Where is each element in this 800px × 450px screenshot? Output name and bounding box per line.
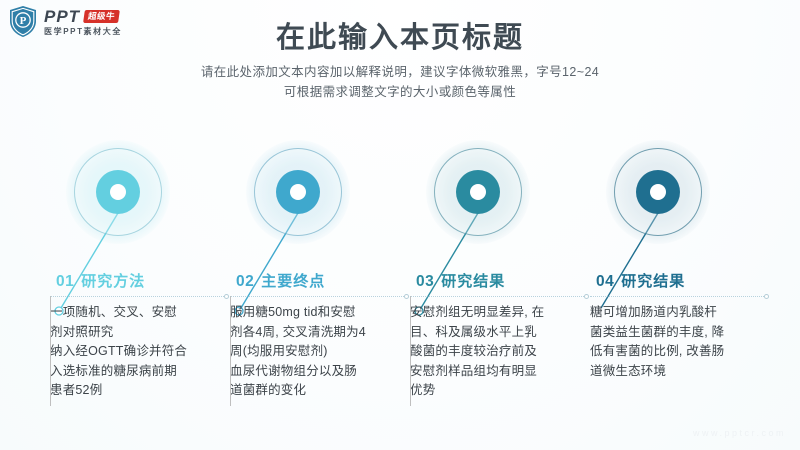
column-rule-3 bbox=[410, 296, 411, 406]
column-number-1: 01 bbox=[56, 273, 74, 291]
column-heading-3: 03 研究结果 bbox=[408, 270, 593, 298]
content-column-4[interactable]: 04 研究结果 糖可增加肠道内乳酸杆 菌类益生菌群的丰度, 降 低有害菌的比例,… bbox=[588, 140, 773, 430]
column-rule-2 bbox=[230, 296, 231, 406]
target-circle-icon-1[interactable] bbox=[66, 140, 170, 244]
column-number-4: 04 bbox=[596, 273, 614, 291]
content-column-2[interactable]: 02 主要终点 服用糖50mg tid和安慰 剂各4周, 交叉清洗期为4 周(均… bbox=[228, 140, 413, 430]
column-rule-1 bbox=[50, 296, 51, 406]
target-circle-icon-3[interactable] bbox=[426, 140, 530, 244]
column-heading-1: 01 研究方法 bbox=[48, 270, 233, 298]
column-body-3: 安慰剂组无明显差异, 在 目、科及属级水平上乳 酸菌的丰度较治疗前及 安慰剂样品… bbox=[410, 303, 590, 401]
column-number-3: 03 bbox=[416, 273, 434, 291]
column-heading-2: 02 主要终点 bbox=[228, 270, 413, 298]
column-heading-4: 04 研究结果 bbox=[588, 270, 773, 298]
target-circle-icon-4[interactable] bbox=[606, 140, 710, 244]
column-number-2: 02 bbox=[236, 273, 254, 291]
target-circle-icon-2[interactable] bbox=[246, 140, 350, 244]
column-title-2: 主要终点 bbox=[261, 270, 325, 291]
column-body-4: 糖可增加肠道内乳酸杆 菌类益生菌群的丰度, 降 低有害菌的比例, 改善肠 道微生… bbox=[590, 303, 770, 381]
page-subtitle: 请在此处添加文本内容加以解释说明，建议字体微软雅黑，字号12~24 可根据需求调… bbox=[0, 62, 800, 102]
content-column-3[interactable]: 03 研究结果 安慰剂组无明显差异, 在 目、科及属级水平上乳 酸菌的丰度较治疗… bbox=[408, 140, 593, 430]
heading-divider-2 bbox=[230, 296, 408, 298]
page-title: 在此输入本页标题 bbox=[0, 14, 800, 56]
divider-end-dot-4 bbox=[764, 294, 769, 299]
column-title-3: 研究结果 bbox=[441, 270, 505, 291]
column-body-1: 一项随机、交叉、安慰 剂对照研究 纳入经OGTT确诊并符合 入选标准的糖尿病前期… bbox=[50, 303, 230, 401]
column-title-1: 研究方法 bbox=[81, 270, 145, 291]
subtitle-line-2: 可根据需求调整文字的大小或颜色等属性 bbox=[0, 82, 800, 102]
content-columns: 01 研究方法 一项随机、交叉、安慰 剂对照研究 纳入经OGTT确诊并符合 入选… bbox=[0, 140, 800, 430]
column-body-2: 服用糖50mg tid和安慰 剂各4周, 交叉清洗期为4 周(均服用安慰剂) 血… bbox=[230, 303, 410, 401]
slide-canvas: P PPT 超级牛 医学PPT素材大全 在此输入本页标题 请在此处添加文本内容加… bbox=[0, 0, 800, 450]
heading-divider-3 bbox=[410, 296, 588, 298]
watermark: www.pptcr.com bbox=[693, 428, 786, 438]
column-title-4: 研究结果 bbox=[621, 270, 685, 291]
heading-divider-1 bbox=[50, 296, 228, 298]
content-column-1[interactable]: 01 研究方法 一项随机、交叉、安慰 剂对照研究 纳入经OGTT确诊并符合 入选… bbox=[48, 140, 233, 430]
heading-divider-4 bbox=[590, 296, 768, 298]
subtitle-line-1: 请在此处添加文本内容加以解释说明，建议字体微软雅黑，字号12~24 bbox=[0, 62, 800, 82]
